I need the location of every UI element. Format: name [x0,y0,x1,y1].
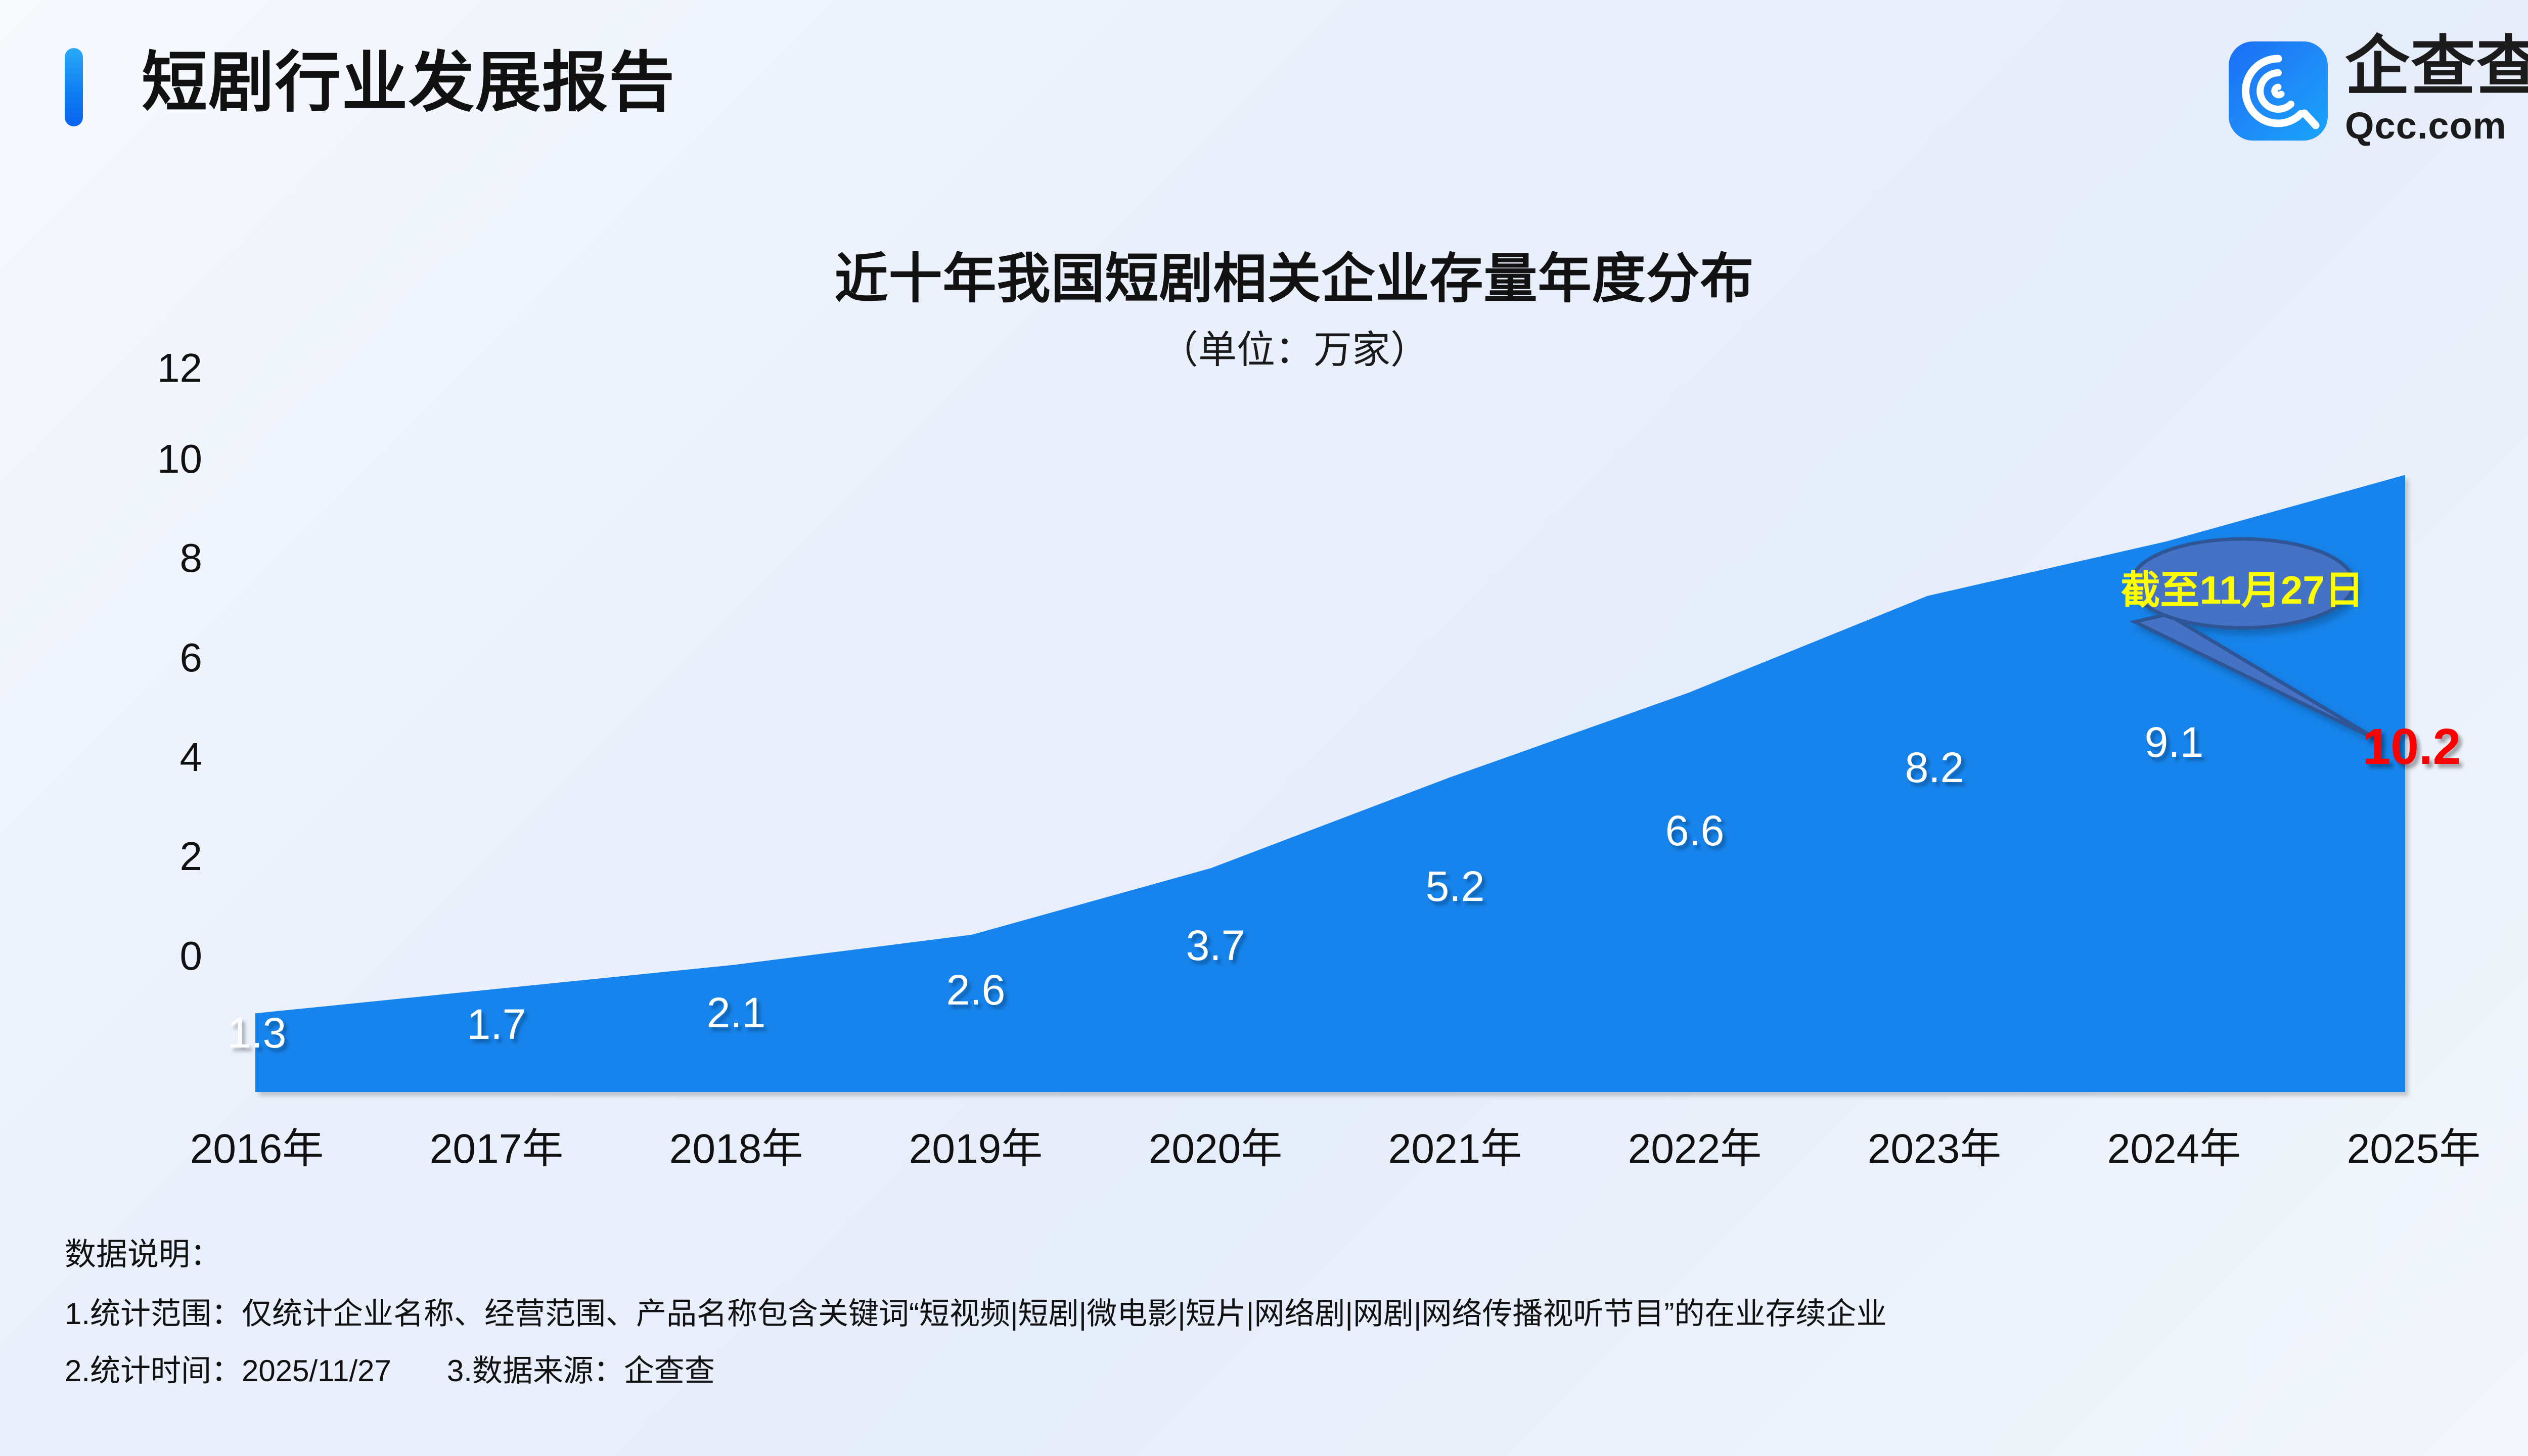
data-label-2024: 9.1 [2098,718,2250,767]
data-label-2016: 1.3 [181,1009,333,1058]
x-axis-tick-2016: 2016年 [141,1115,373,1175]
x-axis-tick-2023: 2023年 [1818,1115,2051,1175]
y-axis-tick-10: 10 [91,436,202,482]
x-axis-tick-2019: 2019年 [860,1115,1092,1175]
data-label-2025-highlight: 10.2 [2321,718,2503,776]
note-line-scope: 1.统计范围：仅统计企业名称、经营范围、产品名称包含关键词“短视频|短剧|微电影… [65,1289,2528,1333]
x-axis-tick-2024: 2024年 [2058,1115,2290,1175]
y-axis-tick-12: 12 [91,345,202,391]
x-axis-tick-2020: 2020年 [1099,1115,1332,1175]
x-axis-tick-2018: 2018年 [620,1115,852,1175]
data-label-2022: 6.6 [1619,806,1771,855]
data-label-2020: 3.7 [1140,921,1291,970]
x-axis-tick-2022: 2022年 [1578,1115,1811,1175]
data-label-2021: 5.2 [1379,862,1531,911]
note-stat-time: 2.统计时间：2025/11/27 [65,1354,391,1388]
x-axis-tick-2021: 2021年 [1339,1115,1571,1175]
y-axis-tick-4: 4 [91,734,202,781]
x-axis-tick-2017: 2017年 [380,1115,613,1175]
x-axis-tick-2025: 2025年 [2297,1115,2528,1175]
callout-text: 截至11月27日 [2065,559,2419,615]
data-label-2017: 1.7 [421,1000,572,1049]
data-label-2019: 2.6 [900,966,1052,1015]
y-axis-tick-8: 8 [91,535,202,581]
notes-heading: 数据说明： [65,1228,2528,1274]
y-axis-tick-0: 0 [91,933,202,979]
data-label-2018: 2.1 [660,988,812,1037]
y-axis-tick-6: 6 [91,634,202,681]
data-notes: 数据说明： 1.统计范围：仅统计企业名称、经营范围、产品名称包含关键词“短视频|… [65,1228,2528,1403]
note-data-source: 3.数据来源：企查查 [447,1354,715,1388]
note-line-time-source: 2.统计时间：2025/11/273.数据来源：企查查 [65,1346,2528,1390]
y-axis-tick-2: 2 [91,833,202,880]
data-label-2023: 8.2 [1859,743,2010,792]
